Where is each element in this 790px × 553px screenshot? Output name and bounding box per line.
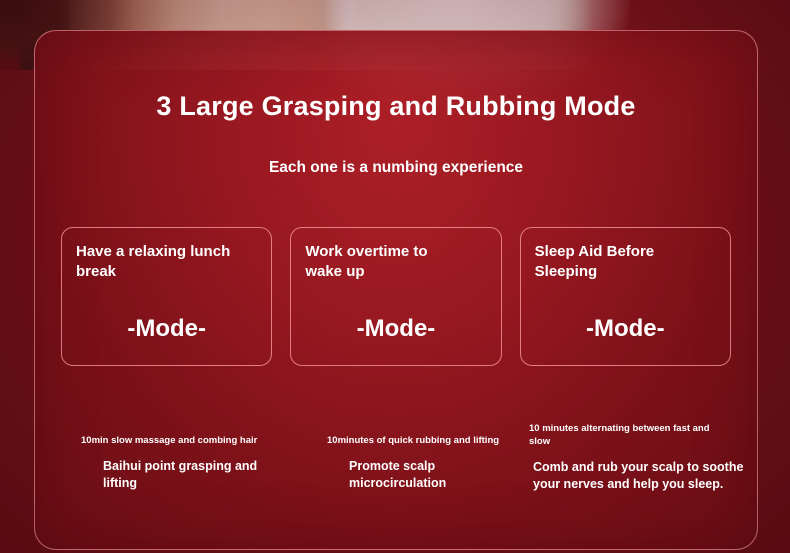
caption-duration-1: 10min slow massage and combing hair: [81, 435, 329, 448]
mode-box-2[interactable]: Work overtime to wake up -Mode-: [290, 227, 501, 366]
caption-block-1: 10min slow massage and combing hair Baih…: [81, 435, 329, 492]
page-title: 3 Large Grasping and Rubbing Mode: [35, 91, 757, 122]
mode-headline-3: Sleep Aid Before Sleeping: [535, 242, 716, 282]
caption-block-3: 10 minutes alternating between fast and …: [529, 423, 758, 492]
caption-benefit-3: Comb and rub your scalp to soothe your n…: [529, 459, 758, 493]
feature-card: 3 Large Grasping and Rubbing Mode Each o…: [34, 30, 758, 550]
caption-duration-2: 10minutes of quick rubbing and lifting: [327, 435, 557, 448]
mode-label-3: -Mode-: [521, 315, 730, 343]
caption-benefit-1: Baihui point grasping and lifting: [81, 458, 329, 492]
caption-benefit-2: Promote scalp microcirculation: [327, 458, 557, 492]
mode-headline-1: Have a relaxing lunch break: [76, 242, 257, 282]
mode-label-1: -Mode-: [62, 315, 271, 343]
caption-group: 10min slow massage and combing hair Baih…: [47, 409, 747, 509]
page-subtitle: Each one is a numbing experience: [35, 159, 757, 177]
mode-box-3[interactable]: Sleep Aid Before Sleeping -Mode-: [520, 227, 731, 366]
mode-box-group: Have a relaxing lunch break -Mode- Work …: [61, 227, 731, 366]
mode-headline-2: Work overtime to wake up: [305, 242, 486, 282]
caption-duration-3: 10 minutes alternating between fast and …: [529, 423, 758, 449]
promo-banner: 3 Large Grasping and Rubbing Mode Each o…: [0, 0, 790, 553]
mode-label-2: -Mode-: [291, 315, 500, 343]
mode-box-1[interactable]: Have a relaxing lunch break -Mode-: [61, 227, 272, 366]
caption-block-2: 10minutes of quick rubbing and lifting P…: [327, 435, 557, 492]
